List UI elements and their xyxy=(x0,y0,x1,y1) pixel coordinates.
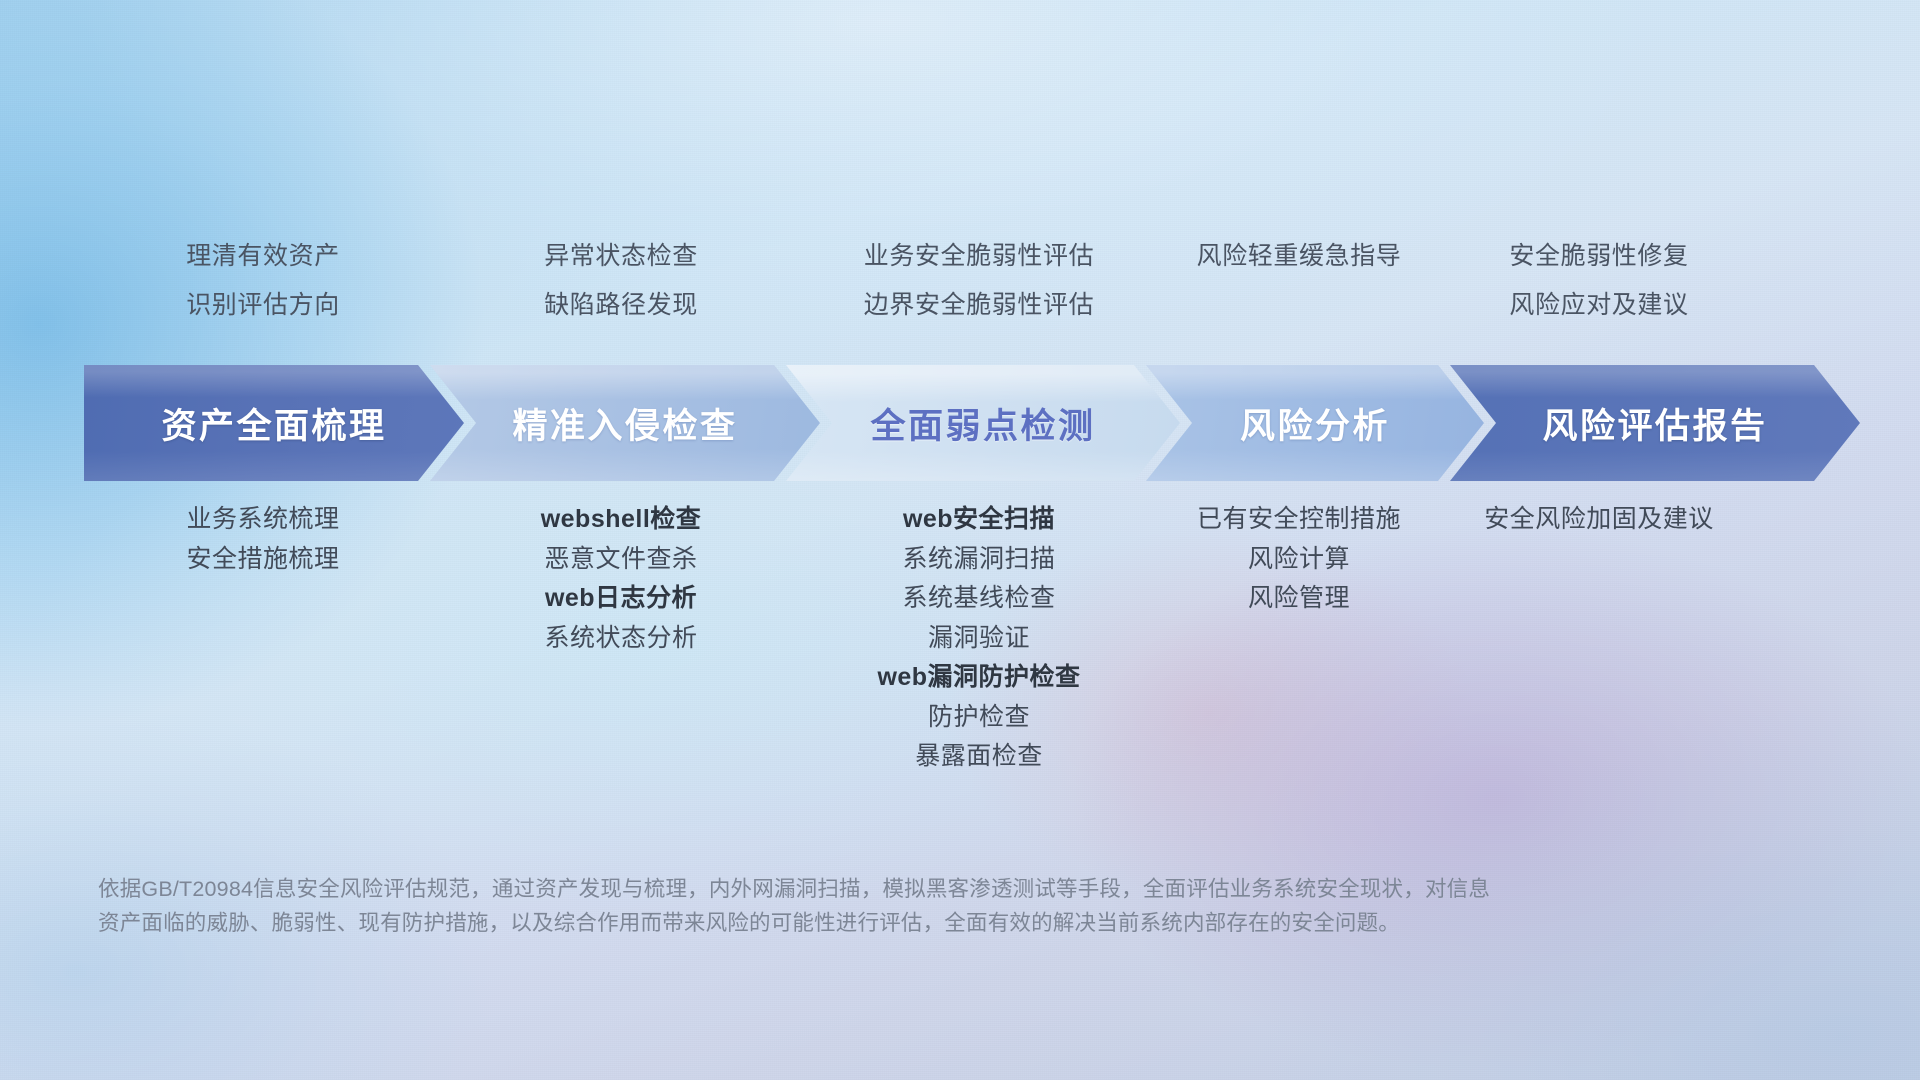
top-note: 风险应对及建议 xyxy=(1440,281,1758,330)
top-note: 缺陷路径发现 xyxy=(442,281,800,330)
list-item: 安全措施梳理 xyxy=(84,540,442,580)
chevron-label: 全面弱点检测 xyxy=(870,398,1095,449)
list-item: 安全风险加固及建议 xyxy=(1440,500,1758,540)
chevron-stage-asset-inventory[interactable]: 资产全面梳理 xyxy=(84,365,464,481)
top-notes-weakness-detection: 业务安全脆弱性评估 边界安全脆弱性评估 xyxy=(800,232,1158,330)
list-item: 系统状态分析 xyxy=(442,619,800,659)
list-item: 业务系统梳理 xyxy=(84,500,442,540)
footer-line: 资产面临的威胁、脆弱性、现有防护措施，以及综合作用而带来风险的可能性进行评估，全… xyxy=(98,906,1618,940)
chevron-label: 精准入侵检查 xyxy=(512,398,737,449)
chevron-label: 风险分析 xyxy=(1240,398,1390,449)
footer-description: 依据GB/T20984信息安全风险评估规范，通过资产发现与梳理，内外网漏洞扫描，… xyxy=(98,872,1618,940)
process-diagram: 理清有效资产 识别评估方向 异常状态检查 缺陷路径发现 业务安全脆弱性评估 边界… xyxy=(0,0,1920,1080)
list-item: 系统漏洞扫描 xyxy=(800,540,1158,580)
top-note: 异常状态检查 xyxy=(442,232,800,281)
chevron-stage-intrusion-check[interactable]: 精准入侵检查 xyxy=(430,365,820,481)
items-risk-analysis: 已有安全控制措施 风险计算 风险管理 xyxy=(1158,500,1440,777)
items-intrusion-check: webshell检查 恶意文件查杀 web日志分析 系统状态分析 xyxy=(442,500,800,777)
bottom-items-row: 业务系统梳理 安全措施梳理 webshell检查 恶意文件查杀 web日志分析 … xyxy=(84,500,1858,777)
items-assessment-report: 安全风险加固及建议 xyxy=(1440,500,1758,777)
top-note: 识别评估方向 xyxy=(84,281,442,330)
chevron-stage-risk-analysis[interactable]: 风险分析 xyxy=(1146,365,1484,481)
top-notes-intrusion-check: 异常状态检查 缺陷路径发现 xyxy=(442,232,800,330)
list-item: 恶意文件查杀 xyxy=(442,540,800,580)
top-notes-assessment-report: 安全脆弱性修复 风险应对及建议 xyxy=(1440,232,1758,330)
chevron-stage-assessment-report[interactable]: 风险评估报告 xyxy=(1450,365,1860,481)
chevron-stage-weakness-detection[interactable]: 全面弱点检测 xyxy=(786,365,1180,481)
list-item: 系统基线检查 xyxy=(800,579,1158,619)
top-notes-row: 理清有效资产 识别评估方向 异常状态检查 缺陷路径发现 业务安全脆弱性评估 边界… xyxy=(84,232,1858,330)
list-item: 风险计算 xyxy=(1158,540,1440,580)
items-asset-inventory: 业务系统梳理 安全措施梳理 xyxy=(84,500,442,777)
chevron-label: 资产全面梳理 xyxy=(161,398,386,449)
footer-line: 依据GB/T20984信息安全风险评估规范，通过资产发现与梳理，内外网漏洞扫描，… xyxy=(98,872,1618,906)
chevron-label: 风险评估报告 xyxy=(1542,398,1767,449)
list-item: web安全扫描 xyxy=(800,500,1158,540)
top-note: 风险轻重缓急指导 xyxy=(1158,232,1440,281)
items-weakness-detection: web安全扫描 系统漏洞扫描 系统基线检查 漏洞验证 web漏洞防护检查 防护检… xyxy=(800,500,1158,777)
stage-chevron-banner: 资产全面梳理 精准入侵检查 全面弱点检测 风险分析 风险评估报告 xyxy=(84,365,1860,481)
list-item: web日志分析 xyxy=(442,579,800,619)
list-item: web漏洞防护检查 xyxy=(800,658,1158,698)
list-item: webshell检查 xyxy=(442,500,800,540)
list-item: 风险管理 xyxy=(1158,579,1440,619)
top-notes-asset-inventory: 理清有效资产 识别评估方向 xyxy=(84,232,442,330)
top-note: 边界安全脆弱性评估 xyxy=(800,281,1158,330)
list-item: 已有安全控制措施 xyxy=(1158,500,1440,540)
top-notes-risk-analysis: 风险轻重缓急指导 xyxy=(1158,232,1440,330)
top-note: 安全脆弱性修复 xyxy=(1440,232,1758,281)
top-note: 业务安全脆弱性评估 xyxy=(800,232,1158,281)
list-item: 防护检查 xyxy=(800,698,1158,738)
top-note: 理清有效资产 xyxy=(84,232,442,281)
list-item: 暴露面检查 xyxy=(800,737,1158,777)
list-item: 漏洞验证 xyxy=(800,619,1158,659)
